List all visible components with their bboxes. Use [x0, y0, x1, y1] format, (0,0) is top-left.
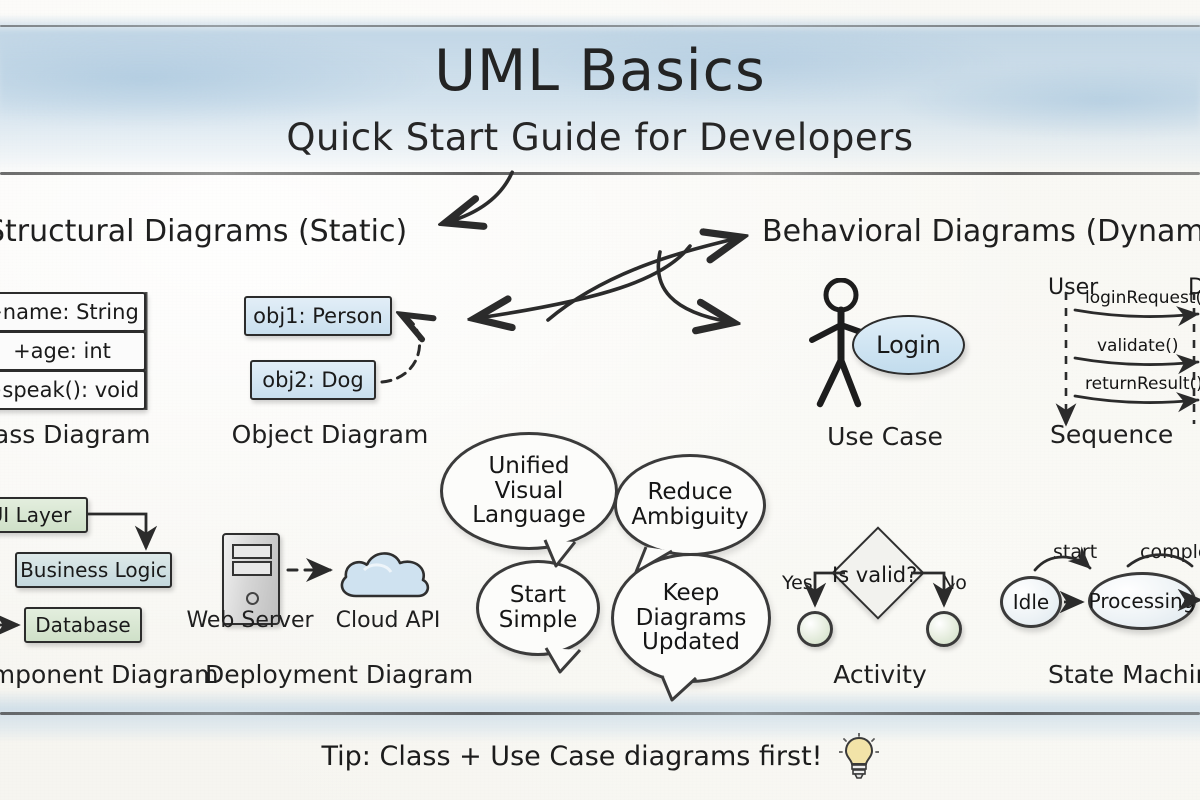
benefit-bubble-start-simple: StartSimple [476, 560, 600, 656]
object-diagram-obj1: obj1: Person [244, 296, 392, 336]
infographic-canvas: UML Basics Quick Start Guide for Develop… [0, 0, 1200, 800]
component-node-database: Database [24, 607, 142, 643]
page-subtitle: Quick Start Guide for Developers [0, 116, 1200, 159]
activity-branch-no: No [941, 572, 967, 594]
deployment-diagram-caption: Deployment Diagram [205, 660, 465, 689]
state-machine-caption: State Machine [1048, 660, 1200, 689]
lightbulb-icon [839, 733, 879, 779]
footer-tip: Tip: Class + Use Case diagrams first! [0, 733, 1200, 779]
sequence-message-returnresult: returnResult() [1085, 374, 1200, 394]
state-transition-start: start [1053, 541, 1097, 563]
class-diagram-attr-age: +age: int [0, 331, 146, 371]
banner-top-edge-line [0, 25, 1200, 27]
benefit-bubble-reduce-ambiguity: ReduceAmbiguity [614, 454, 766, 556]
header-divider-line [0, 172, 1200, 175]
activity-decision-label: Is valid? [832, 563, 917, 587]
state-transition-complete: complete [1140, 541, 1200, 563]
footer-tip-text: Tip: Class + Use Case diagrams first! [322, 741, 823, 772]
use-case-caption: Use Case [785, 422, 985, 451]
class-diagram-method-speak: +speak(): void [0, 370, 146, 410]
activity-branch-yes: Yes [782, 572, 813, 594]
use-case-login-ellipse: Login [852, 315, 965, 375]
footer-divider-line [0, 712, 1200, 715]
sequence-diagram-caption: Sequence [1050, 420, 1200, 449]
object-diagram-obj2: obj2: Dog [250, 360, 376, 400]
benefit-bubble-keep-diagrams-updated: KeepDiagramsUpdated [611, 553, 771, 683]
class-diagram-caption: Class Diagram [0, 420, 160, 449]
object-diagram-caption: Object Diagram [230, 420, 430, 449]
activity-end-node-no [926, 611, 962, 647]
benefit-bubble-unified-visual-language: UnifiedVisualLanguage [440, 432, 618, 550]
deployment-cloud-label: Cloud API [323, 608, 453, 633]
state-processing: Processing [1088, 572, 1196, 630]
activity-diagram-caption: Activity [790, 660, 970, 689]
deployment-server-label: Web Server [185, 608, 315, 633]
section-heading-behavioral: Behavioral Diagrams (Dynamic) [762, 214, 1200, 249]
component-diagram-caption: Component Diagram [0, 660, 198, 689]
class-diagram-attr-name: +name: String [0, 292, 146, 332]
section-heading-structural: Structural Diagrams (Static) [0, 214, 407, 249]
page-title: UML Basics [0, 38, 1200, 104]
sequence-message-validate: validate() [1097, 336, 1179, 356]
component-node-business-logic: Business Logic [15, 552, 172, 588]
state-idle: Idle [1000, 576, 1062, 628]
cloud-icon [334, 540, 438, 600]
component-node-ui-layer: UI Layer [0, 497, 88, 533]
activity-end-node-yes [797, 611, 833, 647]
sequence-message-loginrequest: loginRequest() [1085, 288, 1200, 308]
